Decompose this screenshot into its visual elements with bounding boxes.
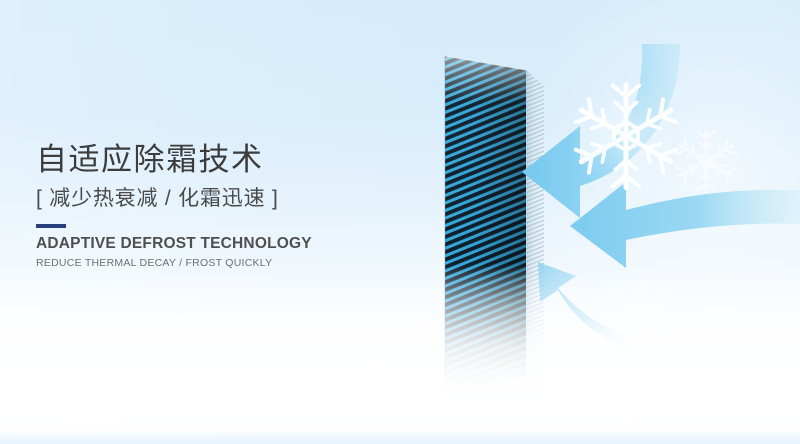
title-divider [36, 224, 66, 228]
background-bottom-fade [0, 266, 800, 444]
page-subtitle-english: REDUCE THERMAL DECAY / FROST QUICKLY [36, 257, 416, 270]
page-title: 自适应除霜技术 [36, 140, 416, 179]
headline-text-block: 自适应除霜技术 [ 减少热衰减 / 化霜迅速 ] ADAPTIVE DEFROS… [36, 140, 416, 269]
page-subtitle: [ 减少热衰减 / 化霜迅速 ] [36, 186, 416, 212]
page-title-english: ADAPTIVE DEFROST TECHNOLOGY [36, 235, 416, 254]
snowflake-large [566, 76, 686, 196]
snowflake-medium [669, 124, 743, 198]
adaptive-defrost-banner: 自适应除霜技术 [ 减少热衰减 / 化霜迅速 ] ADAPTIVE DEFROS… [0, 0, 800, 444]
